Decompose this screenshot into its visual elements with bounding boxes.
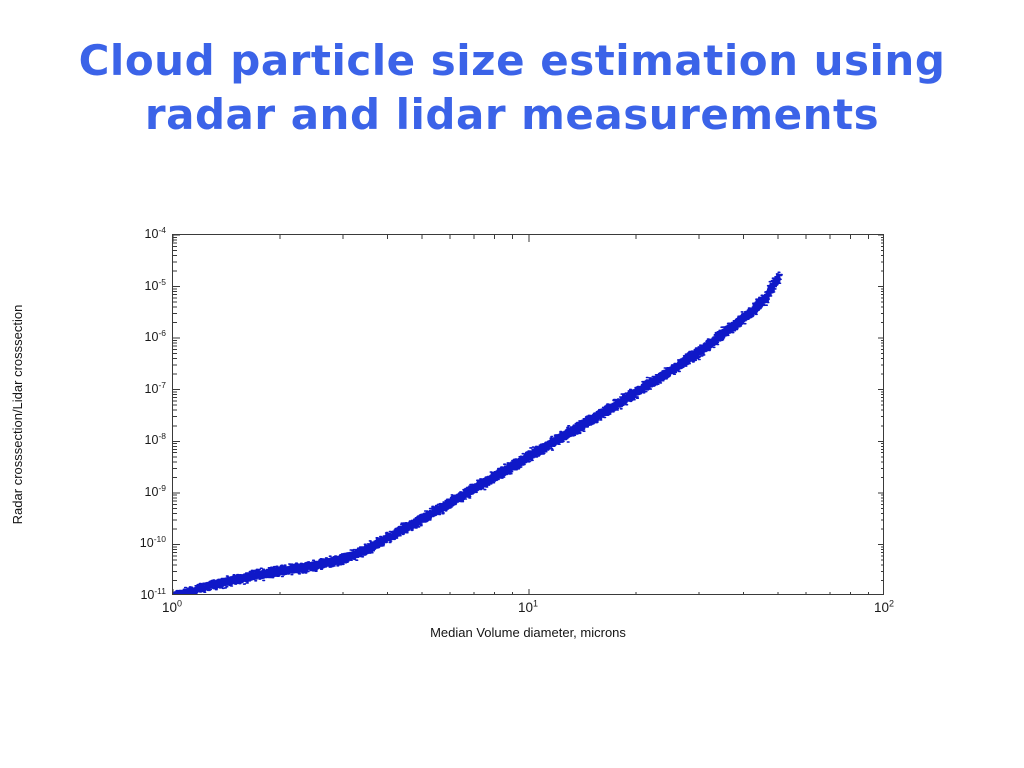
y-axis-tick-label: 10-4 — [145, 227, 166, 241]
y-axis-tick-labels: 10-1110-1010-910-810-710-610-510-4 — [100, 210, 166, 620]
plot-canvas — [173, 235, 884, 595]
x-axis-tick-label: 100 — [162, 600, 182, 615]
page-title-line-1: Cloud particle size estimation using — [0, 34, 1024, 88]
page-title-line-2: radar and lidar measurements — [0, 88, 1024, 142]
y-axis-tick-label: 10-5 — [145, 279, 166, 293]
y-axis-tick-label: 10-10 — [140, 536, 166, 550]
y-axis-title: Radar crosssection/Lidar crosssection — [10, 234, 28, 595]
y-axis-tick-label: 10-6 — [145, 330, 166, 344]
page-title: Cloud particle size estimation using rad… — [0, 34, 1024, 142]
plot-area — [172, 234, 884, 595]
y-axis-tick-label: 10-9 — [145, 485, 166, 499]
scatter-series — [173, 272, 782, 595]
chart-figure: Radar crosssection/Lidar crosssection 10… — [100, 210, 910, 660]
x-axis-title: Median Volume diameter, microns — [172, 625, 884, 640]
x-axis-tick-label: 102 — [874, 600, 894, 615]
x-axis-tick-labels: 100101102 — [172, 600, 884, 622]
y-axis-tick-label: 10-7 — [145, 382, 166, 396]
y-axis-tick-label: 10-8 — [145, 433, 166, 447]
axis-ticks — [173, 235, 884, 595]
x-axis-tick-label: 101 — [518, 600, 538, 615]
